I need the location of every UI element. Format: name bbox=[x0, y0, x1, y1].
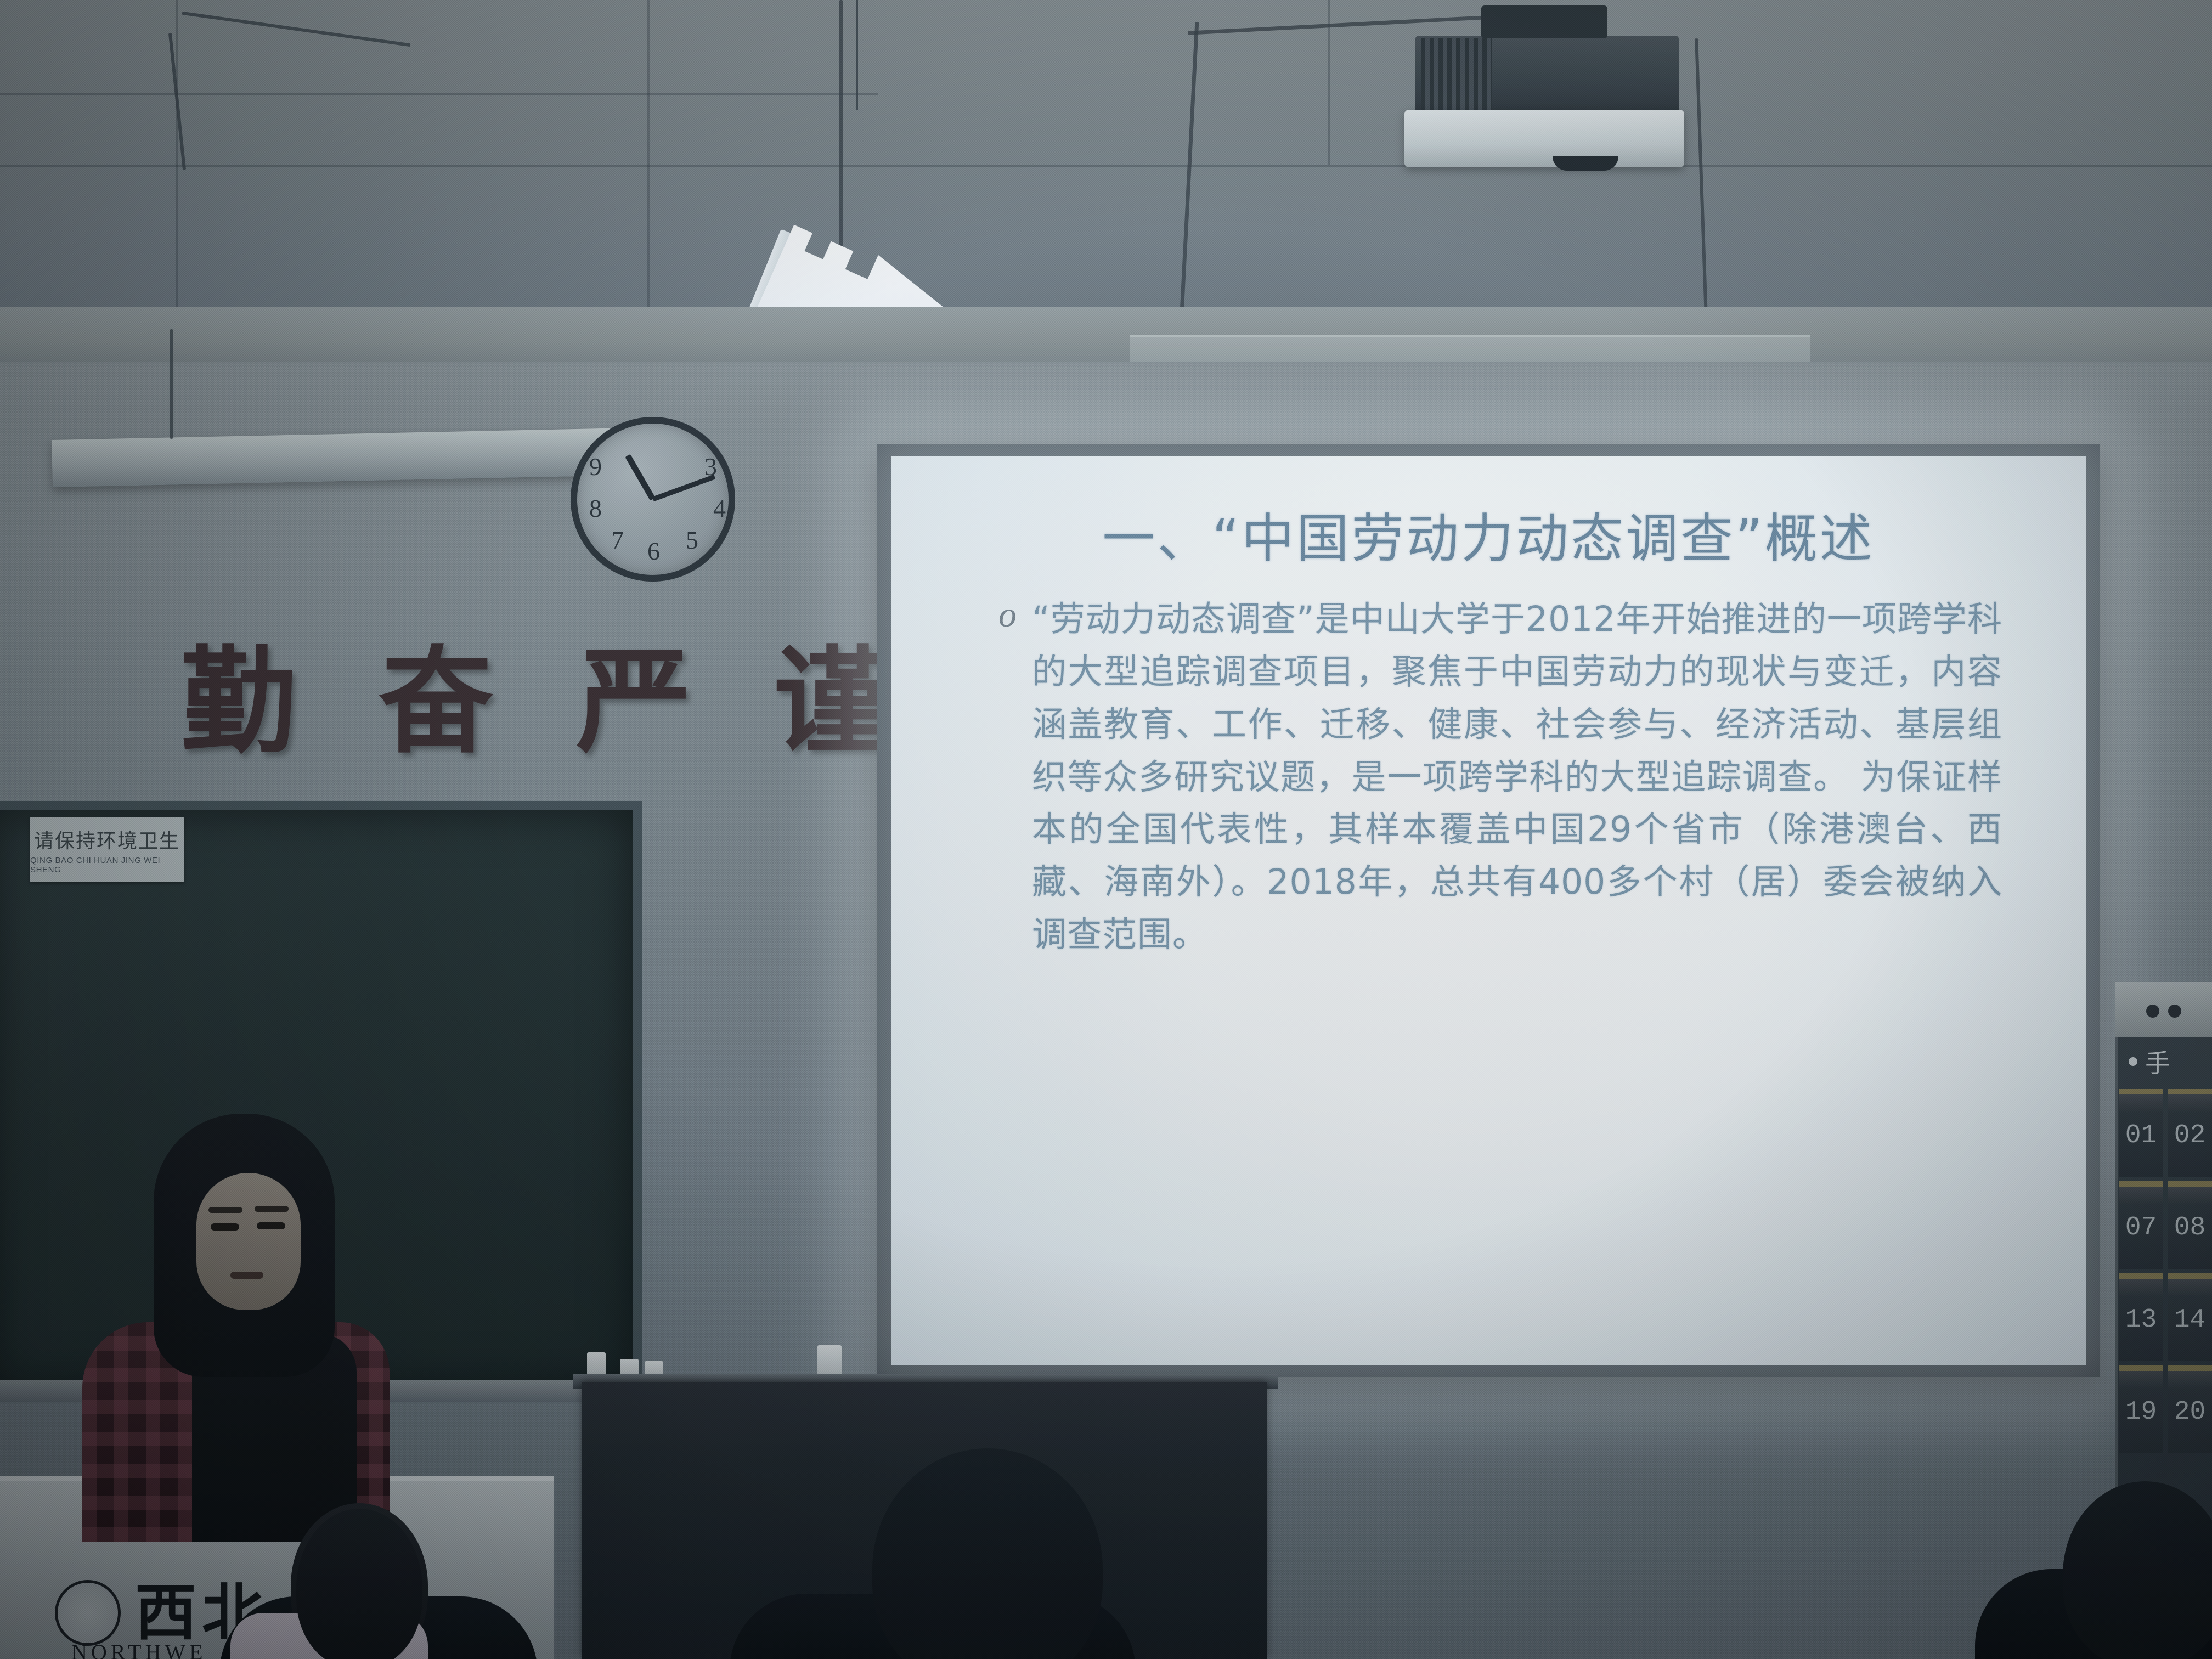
pocket-cell[interactable]: 07 bbox=[2119, 1181, 2163, 1269]
hygiene-sign-cn: 请保持环境卫生 bbox=[34, 825, 180, 854]
pocket-cell[interactable]: 20 bbox=[2168, 1365, 2212, 1453]
pocket-organizer-title: 手 bbox=[2145, 1043, 2170, 1080]
light-bar-wire bbox=[170, 329, 173, 439]
wall-slogan: 勤 奋 严 谨 bbox=[181, 620, 916, 785]
projection-screen-frame: 一、“中国劳动力动态调查”概述 o “劳动力动态调查”是中山大学于2012年开始… bbox=[877, 444, 2100, 1377]
ceiling bbox=[0, 0, 2212, 351]
presentation-slide: 一、“中国劳动力动态调查”概述 o “劳动力动态调查”是中山大学于2012年开始… bbox=[891, 456, 2086, 1365]
wall-clock-icon: 3 4 5 6 7 8 9 bbox=[571, 417, 735, 582]
pocket-organizer-label: 手 bbox=[2129, 1042, 2211, 1081]
presenter-face bbox=[196, 1173, 301, 1310]
clock-numeral: 7 bbox=[611, 526, 624, 555]
pocket-organizer-mount bbox=[2115, 982, 2212, 1040]
slogan-char: 谨 bbox=[774, 645, 889, 760]
slide-title: 一、“中国劳动力动态调查”概述 bbox=[951, 509, 2025, 569]
ceiling-seam bbox=[0, 93, 878, 95]
classroom-scene: 3 4 5 6 7 8 9 勤 奋 严 谨 请保持环境卫生 QING BAO C… bbox=[0, 0, 2212, 1659]
ceiling-seam bbox=[176, 0, 178, 324]
clock-numeral: 6 bbox=[647, 537, 660, 566]
clock-hour-hand bbox=[625, 454, 656, 501]
pocket-cell[interactable]: 14 bbox=[2168, 1273, 2212, 1361]
presenter bbox=[66, 1114, 406, 1509]
clock-numeral: 9 bbox=[589, 452, 602, 481]
clock-numeral: 5 bbox=[686, 526, 698, 555]
pocket-cell[interactable]: 01 bbox=[2119, 1089, 2163, 1177]
clock-numeral: 4 bbox=[713, 494, 726, 523]
pocket-cell[interactable]: 19 bbox=[2119, 1365, 2163, 1453]
university-seal-icon bbox=[55, 1580, 121, 1646]
slogan-char: 勤 bbox=[181, 645, 296, 760]
ceiling-conduit bbox=[839, 0, 843, 247]
presenter-eye bbox=[211, 1223, 239, 1231]
projector-icon bbox=[1404, 5, 1690, 187]
presenter-mouth bbox=[230, 1272, 263, 1279]
clock-minute-hand bbox=[652, 475, 715, 501]
projection-screen: 一、“中国劳动力动态调查”概述 o “劳动力动态调查”是中山大学于2012年开始… bbox=[891, 456, 2086, 1365]
slogan-char: 严 bbox=[576, 645, 691, 760]
hygiene-sign-pinyin: QING BAO CHI HUAN JING WEI SHENG bbox=[30, 856, 184, 874]
clock-numeral: 8 bbox=[589, 494, 602, 523]
pocket-grid: 01 02 07 08 13 14 19 20 bbox=[2119, 1089, 2212, 1453]
pocket-cell[interactable]: 13 bbox=[2119, 1273, 2163, 1361]
pocket-cell[interactable]: 08 bbox=[2168, 1181, 2212, 1269]
pocket-cell[interactable]: 02 bbox=[2168, 1089, 2212, 1177]
slide-body-text: “劳动力动态调查”是中山大学于2012年开始推进的一项跨学科的大型追踪调查项目，… bbox=[1032, 593, 2002, 961]
ceiling-seam bbox=[0, 165, 2212, 167]
presenter-brow bbox=[208, 1207, 242, 1213]
presenter-brow bbox=[255, 1206, 289, 1212]
slogan-char: 奋 bbox=[379, 645, 494, 760]
presenter-eye bbox=[257, 1222, 285, 1229]
mount-bolt-icon bbox=[2146, 1005, 2159, 1018]
ceiling-seam bbox=[647, 0, 650, 307]
slide-bullet: o “劳动力动态调查”是中山大学于2012年开始推进的一项跨学科的大型追踪调查项… bbox=[951, 593, 2025, 961]
mount-bolt-icon bbox=[2168, 1005, 2181, 1018]
bullet-marker-icon: o bbox=[998, 593, 1017, 961]
university-logo-en: NORTHWE bbox=[71, 1639, 207, 1659]
bullet-dot-icon bbox=[2129, 1057, 2137, 1066]
hygiene-sign: 请保持环境卫生 QING BAO CHI HUAN JING WEI SHENG bbox=[30, 817, 184, 882]
lamp-suspension-wire bbox=[856, 0, 858, 110]
